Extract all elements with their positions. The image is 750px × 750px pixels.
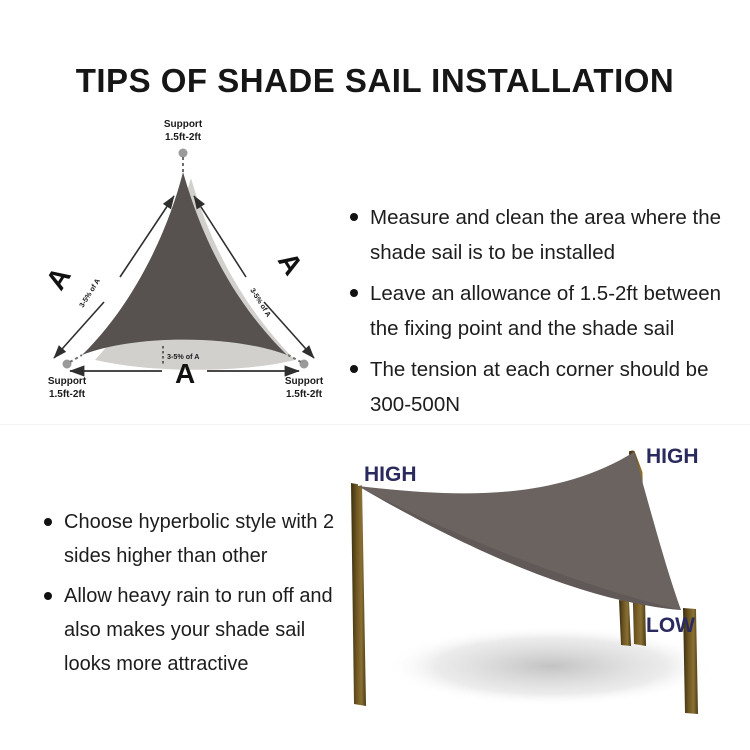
list-item-text: Leave an allowance of 1.5-2ft between th… xyxy=(370,282,721,340)
page-title: TIPS OF SHADE SAIL INSTALLATION xyxy=(0,62,750,100)
bullet-dot-icon xyxy=(350,289,358,297)
hyperbolic-shade-sail-diagram: HIGH HIGH LOW xyxy=(336,428,746,724)
support-label-bottom-left-title: Support xyxy=(48,376,87,387)
side-label-A-left: A xyxy=(40,262,77,296)
triangle-shade-sail-diagram: A A A 3-5% of A 3-5% of A 3-5% of A Supp… xyxy=(22,112,352,412)
hyperbolic-tips-list: Choose hyperbolic style with 2 sides hig… xyxy=(42,505,342,687)
side-label-A-bottom: A xyxy=(175,358,195,389)
section-divider xyxy=(0,424,750,425)
list-item: Leave an allowance of 1.5-2ft between th… xyxy=(348,276,740,346)
installation-tips-list: Measure and clean the area where the sha… xyxy=(348,200,740,428)
list-item: The tension at each corner should be 300… xyxy=(348,352,740,422)
post-middle xyxy=(619,600,631,646)
page-root: TIPS OF SHADE SAIL INSTALLATION xyxy=(0,0,750,750)
bullet-dot-icon xyxy=(350,365,358,373)
curve-note-bottom: 3-5% of A xyxy=(167,352,199,361)
bullet-dot-icon xyxy=(350,213,358,221)
list-item-text: Allow heavy rain to run off and also mak… xyxy=(64,585,333,675)
support-label-bottom-right-title: Support xyxy=(285,376,324,387)
list-item: Allow heavy rain to run off and also mak… xyxy=(42,579,342,681)
list-item-text: Measure and clean the area where the sha… xyxy=(370,206,721,264)
support-label-top-title: Support xyxy=(164,119,203,130)
support-dot-top xyxy=(179,149,188,158)
bullet-dot-icon xyxy=(44,518,52,526)
support-label-top-distance: 1.5ft-2ft xyxy=(165,132,202,143)
support-label-bottom-right-distance: 1.5ft-2ft xyxy=(286,389,323,400)
corner-label-high-left: HIGH xyxy=(364,463,417,486)
list-item-text: Choose hyperbolic style with 2 sides hig… xyxy=(64,511,334,567)
bullet-dot-icon xyxy=(44,592,52,600)
corner-label-low: LOW xyxy=(646,614,695,637)
list-item: Choose hyperbolic style with 2 sides hig… xyxy=(42,505,342,573)
list-item: Measure and clean the area where the sha… xyxy=(348,200,740,270)
list-item-text: The tension at each corner should be 300… xyxy=(370,358,708,416)
side-label-A-right: A xyxy=(272,247,309,281)
support-label-bottom-left-distance: 1.5ft-2ft xyxy=(49,389,86,400)
ground-shadow xyxy=(386,626,716,706)
post-rear-left xyxy=(351,483,366,706)
curve-note-left: 3-5% of A xyxy=(77,277,102,309)
corner-label-high-right: HIGH xyxy=(646,445,699,468)
support-dashed-line-bottom-left xyxy=(70,355,82,362)
sail-shape xyxy=(82,172,287,355)
